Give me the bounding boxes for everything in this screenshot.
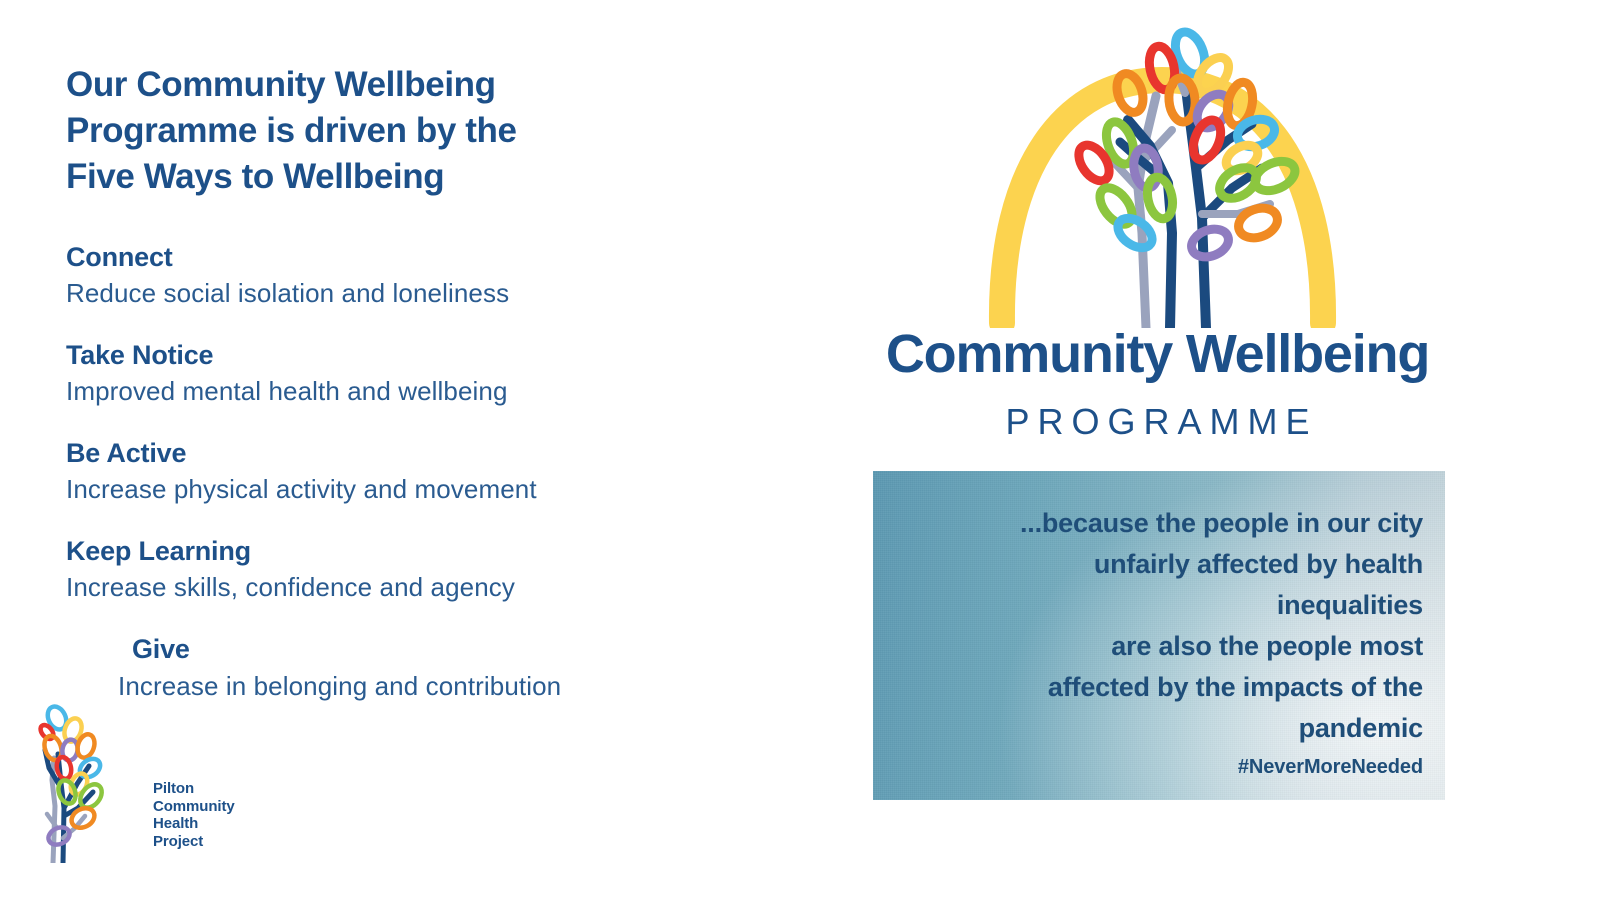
quote-line-2: unfairly affected by health — [907, 544, 1423, 585]
pilton-wordmark-line-2: Community — [153, 798, 235, 816]
pilton-wordmark-line-1: Pilton — [153, 780, 235, 798]
list-item-keep-learning: Keep Learning Increase skills, confidenc… — [66, 534, 806, 603]
quote-line-1: ...because the people in our city — [907, 503, 1423, 544]
cwp-title: Community Wellbeing — [845, 323, 1470, 385]
list-item-take-notice: Take Notice Improved mental health and w… — [66, 338, 806, 407]
pilton-wordmark-line-4: Project — [153, 833, 235, 851]
community-wellbeing-tree-icon — [970, 18, 1355, 328]
way-description-keep-learning: Increase skills, confidence and agency — [66, 571, 806, 603]
page-title: Our Community Wellbeing Programme is dri… — [66, 62, 806, 200]
headline-line-1: Our Community Wellbeing — [66, 62, 806, 108]
pilton-tree-icon — [33, 688, 128, 863]
way-title-give: Give — [132, 632, 806, 666]
list-item-be-active: Be Active Increase physical activity and… — [66, 436, 806, 505]
left-content-column: Our Community Wellbeing Programme is dri… — [66, 62, 806, 731]
five-ways-list: Connect Reduce social isolation and lone… — [66, 240, 806, 702]
list-item-give: Give Increase in belonging and contribut… — [132, 632, 806, 702]
way-description-connect: Reduce social isolation and loneliness — [66, 277, 806, 309]
slide-canvas: Our Community Wellbeing Programme is dri… — [0, 0, 1600, 900]
quote-panel: ...because the people in our city unfair… — [873, 471, 1445, 800]
way-title-keep-learning: Keep Learning — [66, 534, 806, 568]
cwp-subtitle: PROGRAMME — [845, 400, 1470, 444]
headline-line-3: Five Ways to Wellbeing — [66, 154, 806, 200]
way-description-be-active: Increase physical activity and movement — [66, 473, 806, 505]
pilton-wordmark-line-3: Health — [153, 815, 235, 833]
quote-line-4: are also the people most — [907, 626, 1423, 667]
quote-line-3: inequalities — [907, 585, 1423, 626]
quote-line-6: pandemic — [907, 708, 1423, 749]
quote-text: ...because the people in our city unfair… — [907, 503, 1423, 749]
quote-hashtag: #NeverMoreNeeded — [907, 753, 1423, 781]
pilton-wordmark: Pilton Community Health Project — [153, 780, 235, 850]
way-title-connect: Connect — [66, 240, 806, 274]
quote-line-5: affected by the impacts of the — [907, 667, 1423, 708]
pilton-community-health-project-logo: Pilton Community Health Project — [33, 688, 228, 863]
community-wellbeing-programme-logo: Community Wellbeing PROGRAMME — [845, 18, 1470, 448]
way-title-be-active: Be Active — [66, 436, 806, 470]
headline-line-2: Programme is driven by the — [66, 108, 806, 154]
list-item-connect: Connect Reduce social isolation and lone… — [66, 240, 806, 309]
way-description-take-notice: Improved mental health and wellbeing — [66, 375, 806, 407]
way-title-take-notice: Take Notice — [66, 338, 806, 372]
